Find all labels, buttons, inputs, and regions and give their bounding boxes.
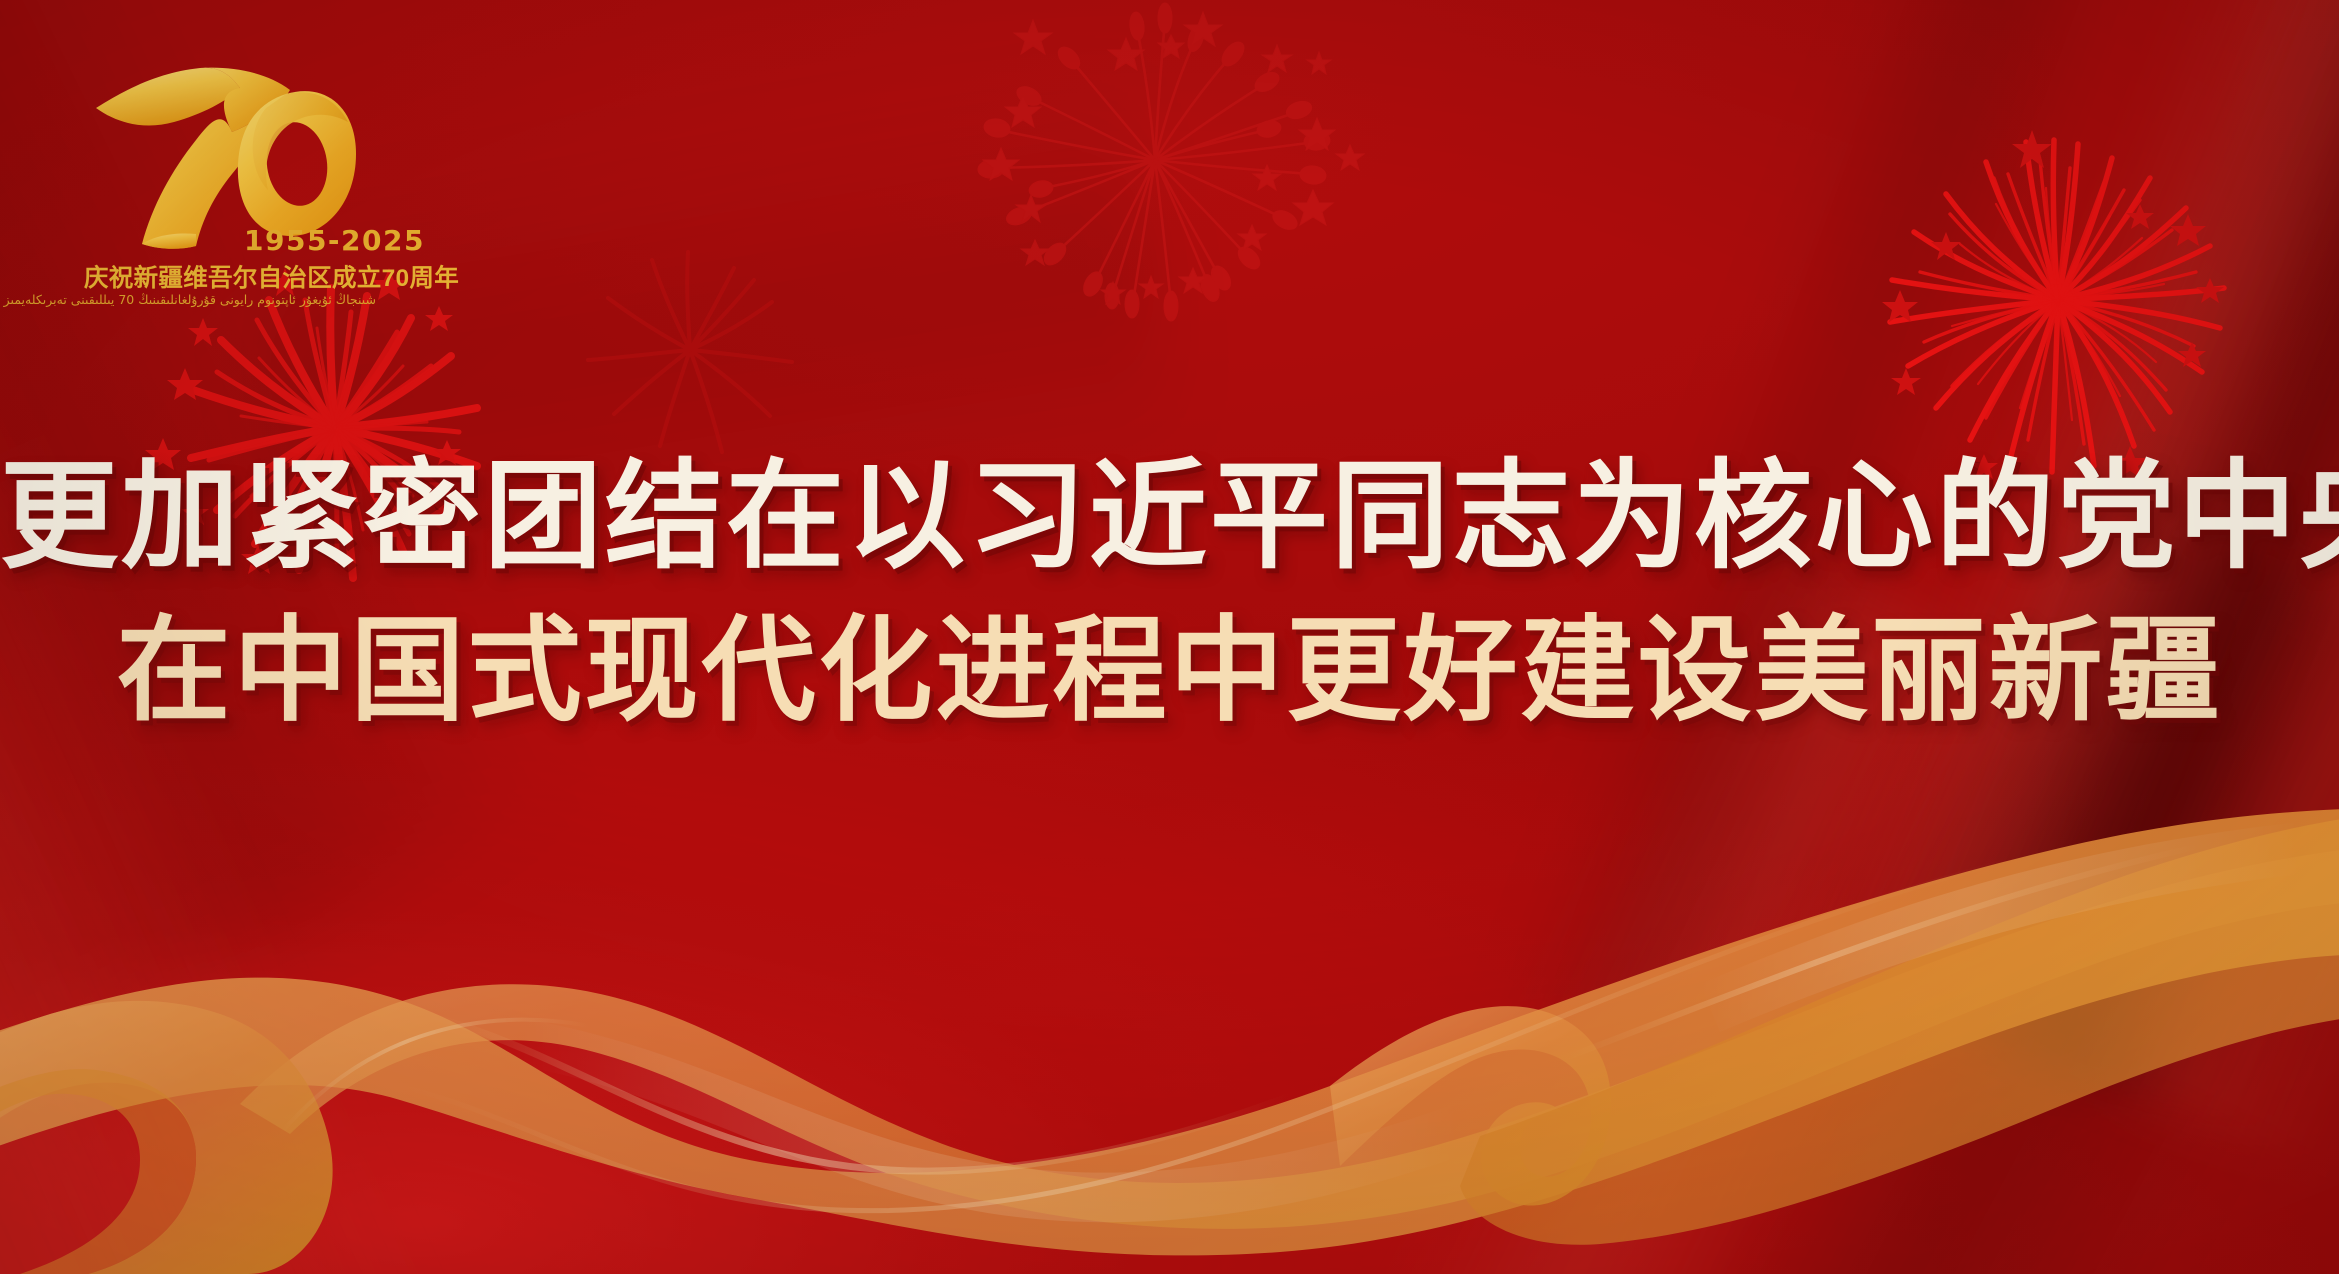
emblem-caption-cn: 庆祝新疆维吾尔自治区成立70周年 bbox=[84, 259, 459, 294]
emblem-year-range: 1955-2025 bbox=[244, 224, 425, 257]
headline-block: 更加紧密团结在以习近平同志为核心的党中央周围 在中国式现代化进程中更好建设美丽新… bbox=[0, 452, 2339, 736]
headline-line-1: 更加紧密团结在以习近平同志为核心的党中央周围 bbox=[0, 452, 2339, 584]
headline-line-2: 在中国式现代化进程中更好建设美丽新疆 bbox=[0, 608, 2339, 736]
poster-canvas: 1955-2025 庆祝新疆维吾尔自治区成立70周年 شىنجاڭ ئۇيغۇر… bbox=[0, 0, 2339, 1274]
anniversary-emblem: 1955-2025 庆祝新疆维吾尔自治区成立70周年 شىنجاڭ ئۇيغۇر… bbox=[76, 46, 416, 366]
seventy-numeral-icon bbox=[90, 46, 360, 254]
emblem-caption-ug: شىنجاڭ ئۇيغۇر ئاپتونوم رايونى قۇرۇلغانلى… bbox=[76, 292, 376, 308]
